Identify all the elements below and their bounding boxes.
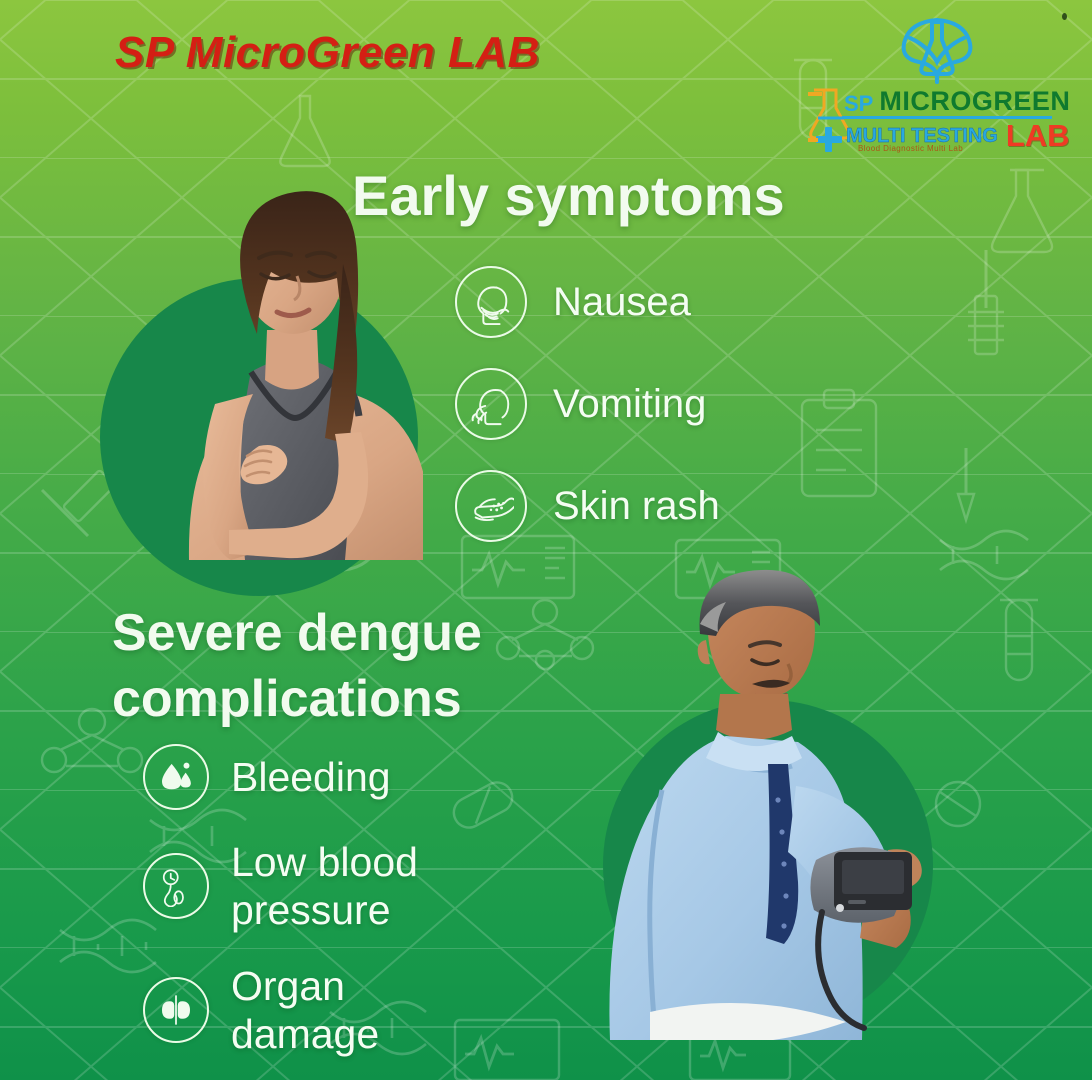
skin-rash-hand-icon [455,470,527,542]
severe-complications-list: Bleeding Low blood pressure [143,744,418,1058]
list-item: Skin rash [455,470,720,542]
list-item: Vomiting [455,368,720,440]
man-with-blood-pressure-cuff-photo [600,560,930,1040]
logo-primary-name: SP MICROGREEN [844,88,1070,115]
severe-heading-line-2: complications [112,666,482,732]
blood-drop-icon [143,744,209,810]
symptom-label: Nausea [553,279,691,326]
list-item: Nausea [455,266,720,338]
complication-label: Low blood pressure [231,838,418,934]
early-symptoms-list: Nausea Vomiting [455,266,720,542]
symptom-label: Vomiting [553,381,706,428]
kidneys-organ-icon [143,977,209,1043]
early-symptoms-heading: Early symptoms [352,164,785,228]
vomiting-head-icon [455,368,527,440]
symptom-label: Skin rash [553,483,720,530]
logo-tagline: Blood Diagnostic Multi Lab [858,144,963,153]
severe-heading-line-1: Severe dengue [112,600,482,666]
list-item: Low blood pressure [143,838,418,934]
logo-microgreen-text: MICROGREEN [879,88,1070,115]
list-item: Bleeding [143,744,418,810]
logo-lab-text: LAB [1006,120,1070,151]
page-title: SP MicroGreen LAB [115,28,540,78]
flask-dna-emblem-icon [896,12,978,86]
company-logo[interactable]: SP MICROGREEN MULTI TESTING LAB Blood Di… [800,12,1068,164]
logo-sp-text: SP [844,93,873,115]
complication-label: Organ damage [231,962,379,1058]
nausea-head-hand-icon [455,266,527,338]
list-item: Organ damage [143,962,418,1058]
complication-label: Bleeding [231,753,391,801]
logo-multi-testing-text: MULTI TESTING [846,126,998,146]
severe-complications-heading: Severe dengue complications [112,600,482,732]
dengue-infographic-poster: SP MicroGreen LAB SP MICROGREEN MULTI TE… [0,0,1092,1080]
blood-pressure-gauge-icon [143,853,209,919]
